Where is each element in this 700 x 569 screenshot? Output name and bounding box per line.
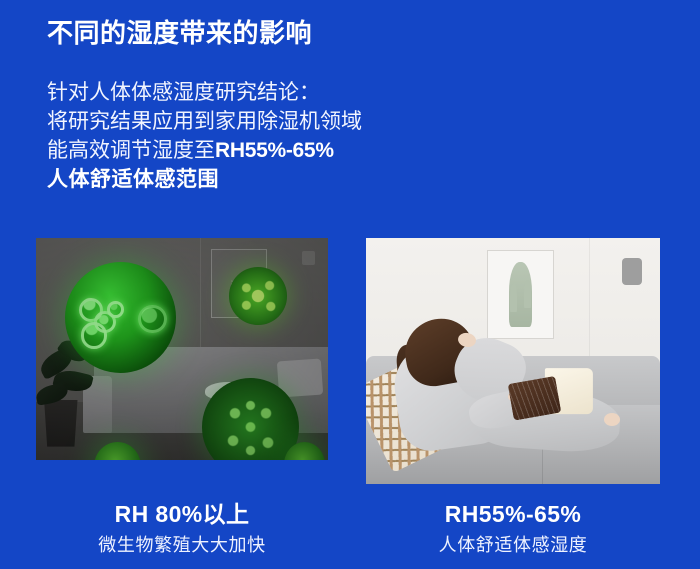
left-scene [36,238,328,460]
intro-line-3-prefix: 能高效调节湿度至 [47,139,215,162]
left-vignette [36,238,328,460]
book-cover [508,376,561,420]
photo-right-woman-reading [366,238,660,484]
cactus-icon [509,262,533,328]
caption-left: RH 80%以上 微生物繁殖大大加快 [36,500,328,556]
page-title: 不同的湿度带来的影响 [47,18,312,49]
open-book [508,366,595,420]
poster-root: 不同的湿度带来的影响 针对人体体感湿度研究结论： 将研究结果应用到家用除湿机领域… [0,0,700,569]
right-scene [366,238,660,484]
caption-right-subtitle: 人体舒适体感湿度 [366,534,660,557]
wall-speaker [622,258,643,285]
caption-right-title: RH55%-65% [366,500,660,529]
woman-figure [387,322,616,465]
intro-line-3: 能高效调节湿度至RH55%-65% [47,136,362,165]
caption-left-subtitle: 微生物繁殖大大加快 [36,534,328,557]
intro-line-1: 针对人体体感湿度研究结论： [47,78,362,107]
cactus-arm-right [524,280,531,308]
intro-paragraph: 针对人体体感湿度研究结论： 将研究结果应用到家用除湿机领域 能高效调节湿度至RH… [47,78,362,194]
intro-line-4: 人体舒适体感范围 [47,165,362,194]
cactus-arm-left [510,284,517,312]
intro-line-2: 将研究结果应用到家用除湿机领域 [47,107,362,136]
caption-right: RH55%-65% 人体舒适体感湿度 [366,500,660,556]
humidity-range-highlight: RH55%-65% [215,139,334,162]
caption-left-title: RH 80%以上 [36,500,328,529]
photo-left-microbes [36,238,328,460]
